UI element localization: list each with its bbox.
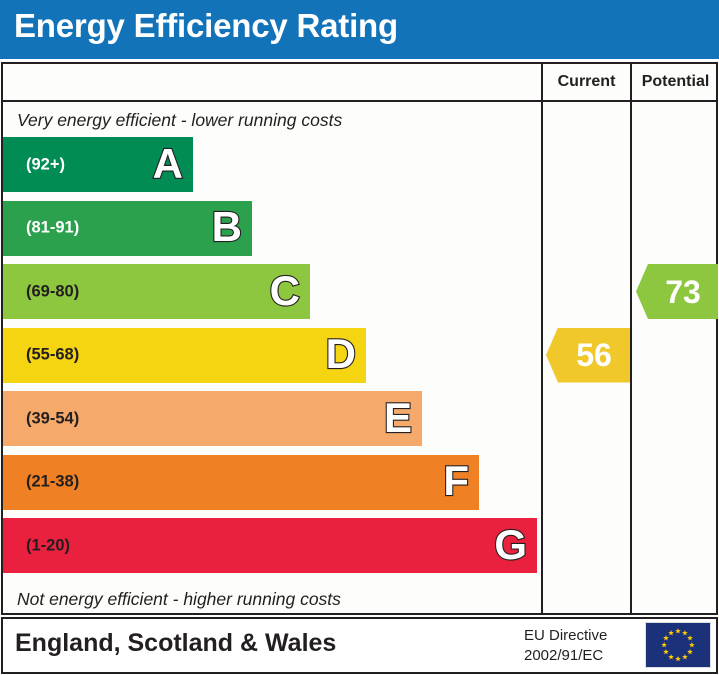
band-letter-b: B — [212, 206, 242, 248]
footer-directive: EU Directive 2002/91/EC — [524, 626, 607, 667]
band-e: (39-54)E — [3, 391, 422, 446]
band-letter-d: D — [326, 333, 356, 375]
caption-top: Very energy efficient - lower running co… — [17, 110, 342, 131]
eu-flag-icon — [645, 622, 711, 668]
column-header-potential: Potential — [632, 73, 719, 91]
page-title: Energy Efficiency Rating — [14, 7, 398, 45]
energy-efficiency-rating-chart: Energy Efficiency Rating Current Potenti… — [0, 0, 719, 675]
band-range-a: (92+) — [26, 155, 65, 174]
rating-arrow-potential: 73 — [636, 264, 718, 319]
title-bar: Energy Efficiency Rating — [0, 0, 719, 59]
footer-directive-line1: EU Directive — [524, 626, 607, 646]
column-divider-potential — [630, 62, 632, 615]
band-range-f: (21-38) — [26, 473, 79, 492]
band-a: (92+)A — [3, 137, 193, 192]
rating-value-potential: 73 — [653, 276, 701, 308]
band-range-d: (55-68) — [26, 346, 79, 365]
rating-arrow-current: 56 — [546, 328, 630, 383]
band-f: (21-38)F — [3, 455, 479, 510]
band-range-b: (81-91) — [26, 219, 79, 238]
band-letter-a: A — [153, 143, 183, 185]
band-letter-e: E — [384, 397, 412, 439]
band-b: (81-91)B — [3, 201, 252, 256]
band-letter-c: C — [270, 270, 300, 312]
column-header-current: Current — [543, 73, 630, 91]
band-d: (55-68)D — [3, 328, 366, 383]
header-rule — [1, 100, 718, 102]
band-c: (69-80)C — [3, 264, 310, 319]
footer-region-label: England, Scotland & Wales — [15, 629, 336, 658]
column-divider-current — [541, 62, 543, 615]
band-range-c: (69-80) — [26, 282, 79, 301]
band-range-g: (1-20) — [26, 536, 70, 555]
band-letter-g: G — [494, 524, 527, 566]
caption-bottom: Not energy efficient - higher running co… — [17, 589, 341, 610]
footer-directive-line2: 2002/91/EC — [524, 646, 607, 666]
band-letter-f: F — [443, 460, 469, 502]
band-g: (1-20)G — [3, 518, 537, 573]
rating-value-current: 56 — [564, 339, 612, 371]
band-range-e: (39-54) — [26, 409, 79, 428]
